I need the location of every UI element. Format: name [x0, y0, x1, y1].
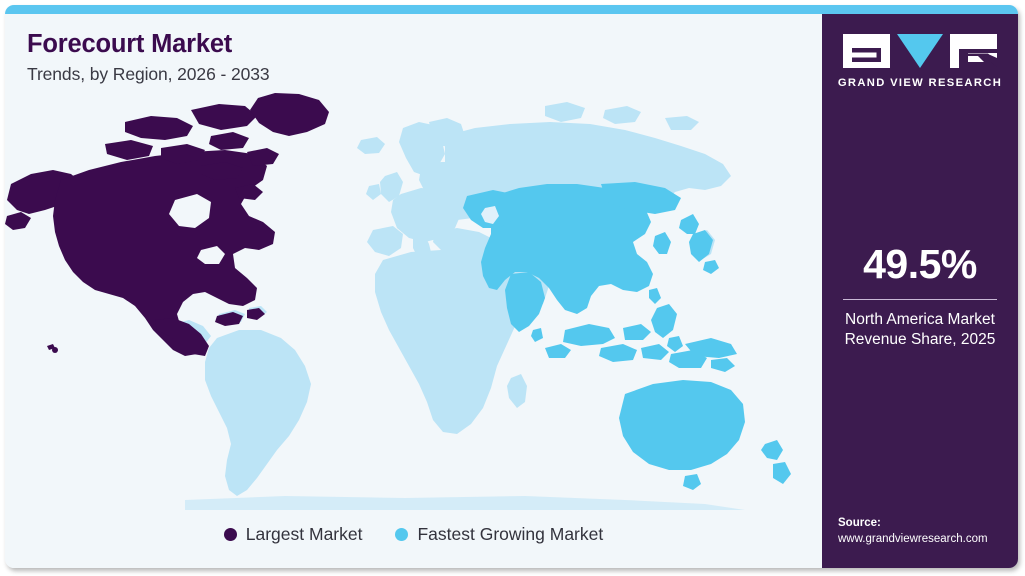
map-region-north-america: [5, 93, 329, 356]
stats-panel: GRAND VIEW RESEARCH 49.5% North America …: [822, 14, 1018, 568]
page-title: Forecourt Market: [27, 30, 269, 58]
logo-r-icon: [950, 34, 997, 68]
map-region-asia-pacific: [463, 182, 791, 490]
source-block: Source: www.grandviewresearch.com: [838, 515, 1018, 548]
legend-item-largest-market: Largest Market: [224, 526, 363, 544]
page-subtitle: Trends, by Region, 2026 - 2033: [27, 65, 269, 84]
stat-description: North America Market Revenue Share, 2025: [822, 310, 1018, 351]
logo-wordmark: GRAND VIEW RESEARCH: [822, 77, 1018, 89]
title-block: Forecourt Market Trends, by Region, 2026…: [27, 30, 269, 84]
brand-logo: GRAND VIEW RESEARCH: [822, 34, 1018, 89]
stat-divider: [843, 299, 997, 300]
logo-g-icon: [843, 34, 890, 68]
stat-block: 49.5% North America Market Revenue Share…: [822, 244, 1018, 351]
legend-label: Largest Market: [246, 526, 363, 544]
logo-marks: [822, 34, 1018, 70]
map-panel: Forecourt Market Trends, by Region, 2026…: [5, 14, 822, 568]
source-url: www.grandviewresearch.com: [838, 531, 1018, 548]
stat-value: 49.5%: [822, 244, 1018, 285]
logo-v-icon: [897, 34, 943, 68]
legend-label: Fastest Growing Market: [417, 526, 603, 544]
dot-icon: [224, 528, 237, 541]
infographic-card: Forecourt Market Trends, by Region, 2026…: [5, 5, 1018, 568]
dot-icon: [395, 528, 408, 541]
source-label: Source:: [838, 515, 1018, 532]
legend: Largest Market Fastest Growing Market: [5, 526, 822, 544]
top-accent-bar: [5, 5, 1018, 14]
legend-item-fastest-growing-market: Fastest Growing Market: [395, 526, 603, 544]
world-map-svg: [5, 92, 822, 512]
world-map: [5, 92, 822, 512]
